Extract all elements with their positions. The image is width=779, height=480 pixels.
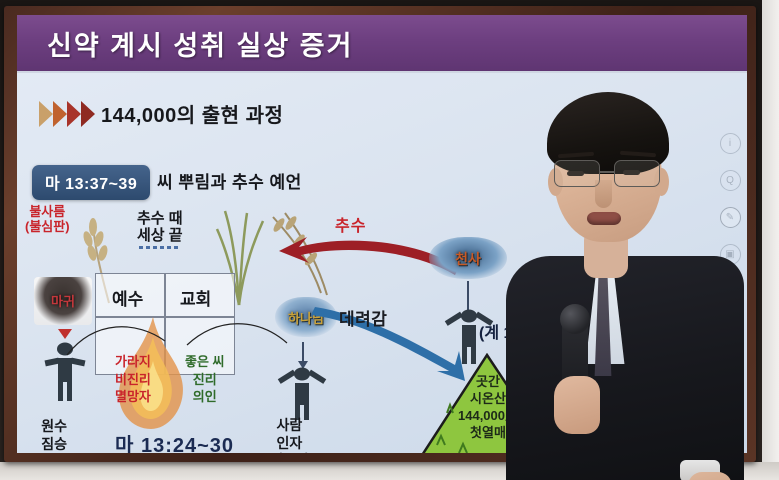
scripture-badge: 마 13:37~39 (32, 165, 150, 200)
chevron-decoration-icon (39, 99, 95, 129)
label-burning-line2: (불심판) (25, 220, 70, 235)
microphone-head (560, 304, 590, 334)
glasses-lens-right (614, 160, 660, 187)
label-harvest: 추수 (335, 218, 366, 236)
label-son-of-man: 사람 인자 예수님 (270, 417, 309, 453)
label-burning: 불사름 (불심판) (25, 205, 70, 234)
slide-subtitle: 144,000의 출현 과정 (101, 99, 283, 128)
scripture-caption: 씨 뿌림과 추수 예언 (157, 168, 302, 193)
connector-curves (61, 315, 321, 359)
presenter-nose (595, 180, 612, 208)
label-takeaway: 데려감 (339, 310, 387, 329)
label-devil: 마귀 (34, 291, 92, 310)
label-enemy-2: 짐승 (35, 436, 73, 454)
presenter-suit (506, 256, 744, 480)
label-son-of-man-1: 사람 (270, 417, 309, 435)
presenter-hand-right (688, 472, 732, 480)
label-harvest-time: 추수 때 세상 끝 (137, 211, 183, 245)
label-good-column: 좋은 씨 진리 의인 (185, 353, 225, 406)
label-son-of-man-3: 예수님 (270, 452, 309, 453)
label-enemy: 원수 짐승 서 · 바 (35, 418, 73, 453)
label-burning-line1: 불사름 (25, 205, 70, 220)
presenter (492, 60, 762, 480)
label-enemy-1: 원수 (35, 418, 73, 436)
room-wall-right (762, 0, 779, 480)
presenter-mouth (587, 212, 621, 225)
label-bad-3: 멸망자 (115, 388, 151, 406)
label-good-2: 진리 (185, 371, 225, 389)
label-church-box: 교회 (180, 285, 211, 310)
screenshot-root: 신약 계시 성취 실상 증거 144,000의 출현 과정 마 13:37~39… (0, 0, 779, 480)
page-title: 신약 계시 성취 실상 증거 (47, 24, 353, 63)
label-bad-column: 가라지 비진리 멸망자 (115, 353, 151, 406)
label-son-of-man-2: 인자 (270, 435, 309, 453)
presenter-hand-holding-mic (554, 376, 600, 434)
label-bad-2: 비진리 (115, 371, 151, 389)
glasses-bridge (600, 171, 614, 173)
label-harvest-time-line1: 추수 때 (137, 211, 183, 228)
label-harvest-time-line2: 세상 끝 (137, 228, 183, 245)
label-good-3: 의인 (185, 388, 225, 406)
verse-reference-bottom: 마 13:24~30 (115, 435, 234, 453)
label-jesus-box: 예수 (112, 285, 143, 310)
glasses-lens-left (554, 160, 600, 187)
